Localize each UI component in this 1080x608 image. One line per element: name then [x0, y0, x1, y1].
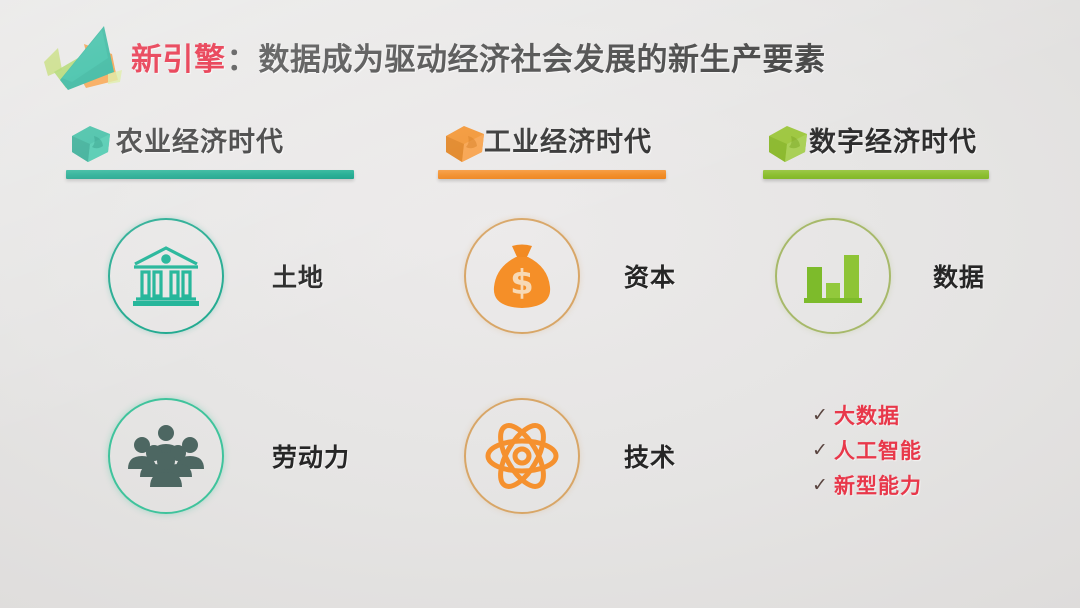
cube-icon-orange: [442, 122, 488, 164]
item-capital: $ 资本: [464, 218, 676, 334]
check-mark-icon: ✓: [812, 476, 834, 495]
title-main-text: 数据成为驱动经济社会发展的新生产要素: [259, 34, 826, 79]
bar-chart-icon: [775, 218, 891, 334]
page-title: 新引擎 ： 数据成为驱动经济社会发展的新生产要素: [131, 34, 826, 79]
item-data: 数据: [775, 218, 985, 334]
digital-capability-checklist: ✓ 大数据 ✓ 人工智能 ✓ 新型能力: [812, 400, 922, 500]
svg-text:$: $: [510, 263, 534, 303]
checklist-label-ai: 人工智能: [834, 435, 922, 465]
slide-header: 新引擎 ： 数据成为驱动经济社会发展的新生产要素: [0, 0, 1080, 108]
column-header-digital: 数字经济时代: [757, 118, 1057, 180]
checklist-label-big-data: 大数据: [834, 400, 900, 430]
column-title-digital: 数字经济时代: [809, 120, 977, 159]
check-mark-icon: ✓: [812, 406, 834, 425]
column-title-agricultural: 农业经济时代: [116, 120, 284, 159]
item-land: 土地: [108, 218, 324, 334]
item-label-capital: 资本: [624, 258, 676, 294]
item-labor: 劳动力: [108, 398, 350, 514]
list-item: ✓ 新型能力: [812, 470, 922, 500]
item-technology: 技术: [464, 398, 676, 514]
money-bag-icon: $: [464, 218, 580, 334]
column-industrial: 工业经济时代: [432, 118, 732, 180]
column-underline-digital: [763, 170, 989, 179]
item-label-labor: 劳动力: [272, 438, 350, 474]
title-accent-text: 新引擎: [131, 34, 226, 79]
item-label-data: 数据: [933, 258, 985, 294]
item-label-land: 土地: [272, 258, 324, 294]
bank-temple-icon: [108, 218, 224, 334]
list-item: ✓ 人工智能: [812, 435, 922, 465]
checklist-label-new-capability: 新型能力: [834, 470, 922, 500]
column-agricultural: 农业经济时代: [60, 118, 400, 180]
title-colon: ：: [226, 34, 259, 79]
triangle-mountain-logo-icon: [38, 18, 132, 98]
list-item: ✓ 大数据: [812, 400, 922, 430]
column-header-industrial: 工业经济时代: [432, 118, 732, 180]
column-digital: 数字经济时代: [757, 118, 1057, 180]
column-header-agricultural: 农业经济时代: [60, 118, 400, 180]
people-group-icon: [108, 398, 224, 514]
slide-canvas: 新引擎 ： 数据成为驱动经济社会发展的新生产要素 农业经济时代: [0, 0, 1080, 608]
column-underline-agricultural: [66, 170, 354, 179]
check-mark-icon: ✓: [812, 441, 834, 460]
column-underline-industrial: [438, 170, 666, 179]
column-title-industrial: 工业经济时代: [484, 120, 652, 159]
cube-icon-green: [765, 122, 811, 164]
atom-icon: [464, 398, 580, 514]
item-label-technology: 技术: [624, 438, 676, 474]
cube-icon-teal: [68, 122, 114, 164]
